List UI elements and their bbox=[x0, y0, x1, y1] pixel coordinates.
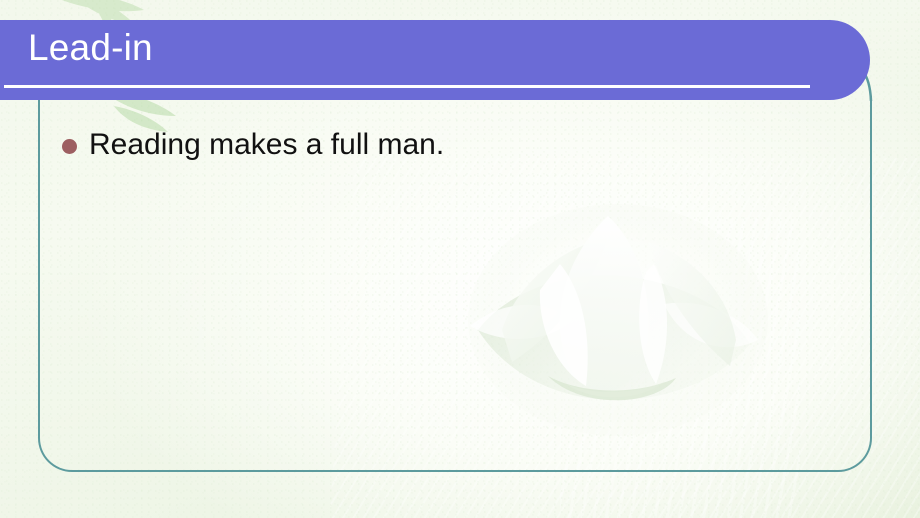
bullet-dot-icon bbox=[62, 139, 77, 154]
slide-canvas: Lead-in Reading makes a full man. bbox=[0, 0, 920, 518]
title-underline bbox=[4, 85, 810, 88]
list-item: Reading makes a full man. bbox=[62, 126, 444, 164]
bullet-text: Reading makes a full man. bbox=[89, 126, 444, 164]
page-title: Lead-in bbox=[28, 26, 153, 70]
